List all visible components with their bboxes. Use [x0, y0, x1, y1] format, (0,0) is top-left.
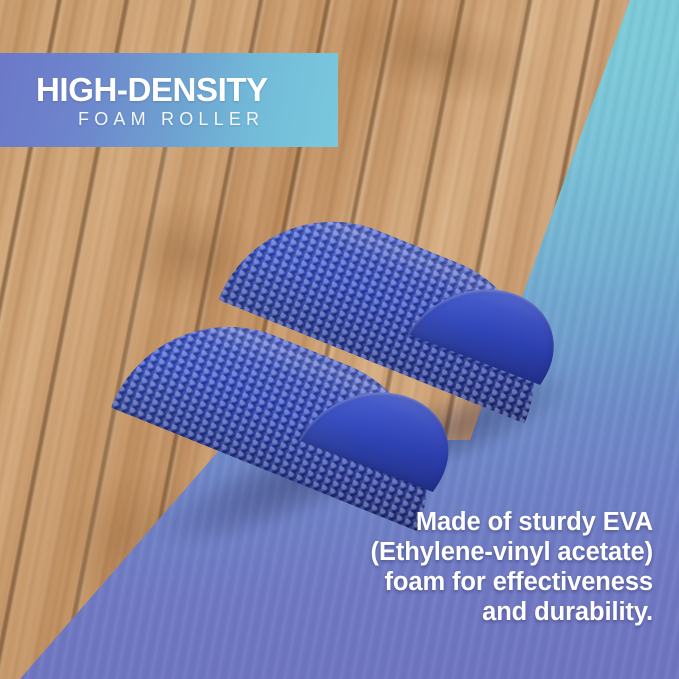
callout-line-1: Made of sturdy EVA: [323, 507, 653, 537]
callout-line-2: (Ethylene-vinyl acetate): [323, 537, 653, 567]
feature-callout: Made of sturdy EVA (Ethylene-vinyl aceta…: [323, 507, 653, 627]
banner-title: HIGH-DENSITY: [36, 73, 268, 106]
title-banner: HIGH-DENSITY FOAM ROLLER: [0, 53, 338, 147]
banner-subtitle: FOAM ROLLER: [36, 110, 264, 128]
callout-line-4: and durability.: [323, 597, 653, 627]
callout-line-3: foam for effectiveness: [323, 567, 653, 597]
product-marketing-image: HIGH-DENSITY FOAM ROLLER Made of sturdy …: [0, 0, 679, 679]
